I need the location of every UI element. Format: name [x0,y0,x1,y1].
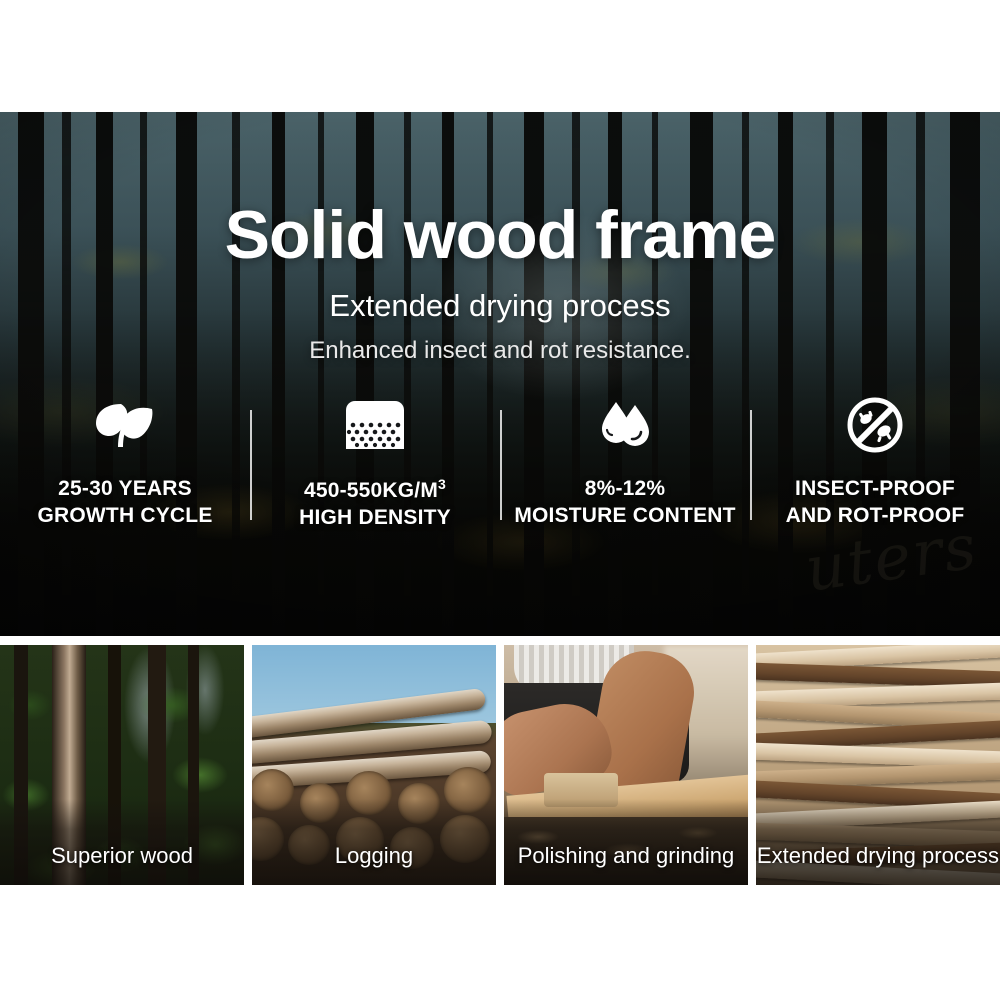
feature-growth-cycle: 25-30 YEARS GROWTH CYCLE [0,396,250,530]
no-insect-icon [847,396,903,454]
hero-banner: uters Solid wood frame Extended drying p… [0,112,1000,636]
water-drops-icon [594,396,656,454]
infographic-page: uters Solid wood frame Extended drying p… [0,0,1000,1000]
caption-gradient [0,799,244,885]
feature-label-high-density: 450-550KG/M3 HIGH DENSITY [299,476,451,532]
feature-insect-proof: INSECT-PROOF AND ROT-PROOF [750,396,1000,530]
feature-line2: AND ROT-PROOF [786,504,965,527]
feature-moisture-content: 8%-12% MOISTURE CONTENT [500,396,750,530]
leaf-sprout-icon [94,396,156,454]
feature-line1-superscript: 3 [438,476,446,492]
process-photo-strip: Superior wood [0,645,1000,885]
feature-line2: HIGH DENSITY [299,506,451,529]
caption-gradient [756,799,1000,885]
tile-superior-wood[interactable]: Superior wood [0,645,244,885]
hero-tagline: Enhanced insect and rot resistance. [0,337,1000,365]
feature-line1: 450-550KG/M [304,479,438,502]
tile-caption: Superior wood [0,843,244,869]
tile-polishing-and-grinding[interactable]: Polishing and grinding [504,645,748,885]
feature-label-growth-cycle: 25-30 YEARS GROWTH CYCLE [37,476,212,530]
feature-line2: GROWTH CYCLE [37,504,212,527]
tile-caption: Logging [252,843,496,869]
hero-title: Solid wood frame [0,196,1000,274]
hero-content: Solid wood frame Extended drying process… [0,112,1000,636]
hero-subtitle: Extended drying process [0,288,1000,324]
feature-line2: MOISTURE CONTENT [514,504,735,527]
tile-caption: Extended drying process [756,843,1000,869]
feature-line1: 25-30 YEARS [58,477,192,500]
feature-label-moisture-content: 8%-12% MOISTURE CONTENT [514,476,735,530]
density-block-icon [344,396,406,454]
caption-gradient [504,799,748,885]
feature-line1: INSECT-PROOF [795,477,955,500]
tile-logging[interactable]: Logging [252,645,496,885]
caption-gradient [252,799,496,885]
feature-label-insect-proof: INSECT-PROOF AND ROT-PROOF [786,476,965,530]
feature-high-density: 450-550KG/M3 HIGH DENSITY [250,396,500,532]
tile-extended-drying-process[interactable]: Extended drying process [756,645,1000,885]
feature-line1: 8%-12% [585,477,666,500]
feature-row: 25-30 YEARS GROWTH CYCLE [0,396,1000,546]
tile-caption: Polishing and grinding [504,843,748,869]
